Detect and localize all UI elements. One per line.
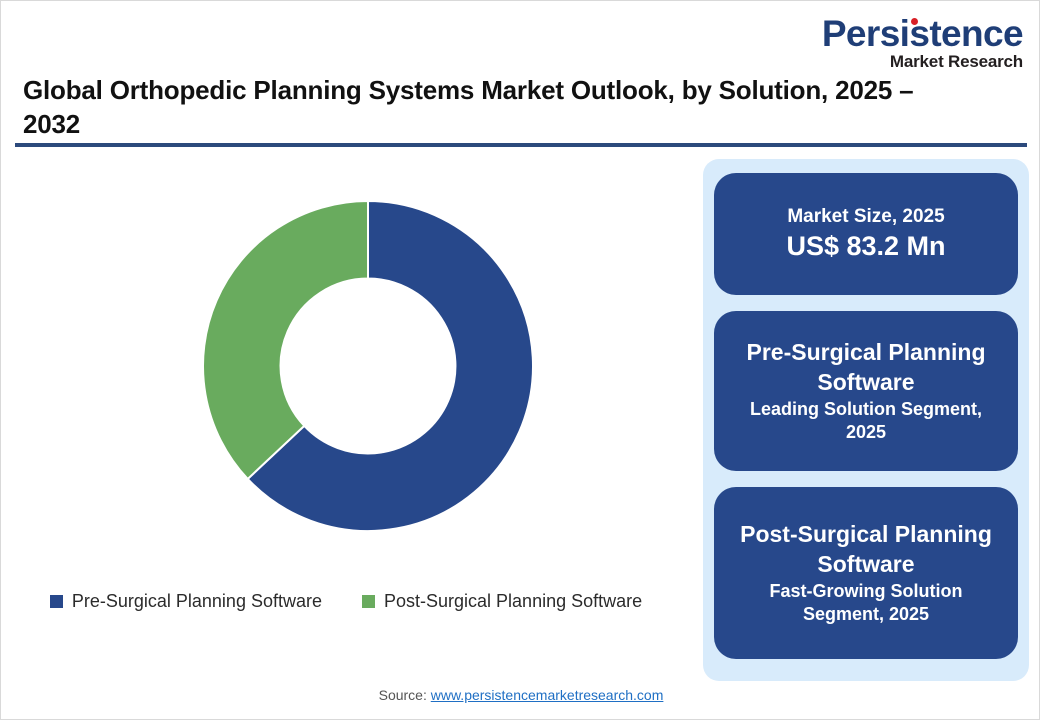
- stat-card-leading-segment: Pre-Surgical Planning Software Leading S…: [714, 311, 1018, 471]
- logo-wordmark: Persistence: [822, 15, 1023, 53]
- donut-slices: [203, 201, 533, 531]
- logo-tagline: Market Research: [791, 52, 1023, 72]
- fastest-segment-caption: Fast-Growing Solution Segment, 2025: [730, 580, 1002, 627]
- infographic-page: Persistence Market Research Global Ortho…: [0, 0, 1040, 720]
- legend-label: Pre-Surgical Planning Software: [72, 591, 322, 612]
- market-size-value: US$ 83.2 Mn: [786, 229, 945, 263]
- stat-card-market-size: Market Size, 2025 US$ 83.2 Mn: [714, 173, 1018, 295]
- source-link[interactable]: www.persistencemarketresearch.com: [431, 687, 664, 703]
- legend-item-pre-surgical[interactable]: Pre-Surgical Planning Software: [50, 591, 322, 612]
- leading-segment-name: Pre-Surgical Planning Software: [730, 338, 1002, 398]
- source-note: Source: www.persistencemarketresearch.co…: [1, 687, 1040, 703]
- page-title: Global Orthopedic Planning Systems Marke…: [23, 73, 923, 142]
- donut-chart-graphic: [201, 199, 535, 533]
- logo-wordmark-text: Persistence: [822, 13, 1023, 54]
- legend-item-post-surgical[interactable]: Post-Surgical Planning Software: [362, 591, 642, 612]
- legend-label: Post-Surgical Planning Software: [384, 591, 642, 612]
- source-label: Source:: [379, 687, 431, 703]
- chart-legend: Pre-Surgical Planning Software Post-Surg…: [1, 591, 691, 612]
- title-divider: [15, 143, 1027, 147]
- legend-swatch-icon: [50, 595, 63, 608]
- logo-red-dot-icon: [911, 18, 918, 25]
- stat-card-fastest-segment: Post-Surgical Planning Software Fast-Gro…: [714, 487, 1018, 659]
- stats-panel: Market Size, 2025 US$ 83.2 Mn Pre-Surgic…: [703, 159, 1029, 681]
- legend-swatch-icon: [362, 595, 375, 608]
- market-size-label: Market Size, 2025: [787, 205, 944, 229]
- company-logo: Persistence Market Research: [791, 15, 1023, 72]
- donut-svg: [201, 199, 535, 533]
- donut-slice-post-surgical[interactable]: [203, 201, 368, 479]
- donut-chart: Pre-Surgical Planning Software Post-Surg…: [1, 151, 691, 651]
- fastest-segment-name: Post-Surgical Planning Software: [730, 520, 1002, 580]
- leading-segment-caption: Leading Solution Segment, 2025: [730, 398, 1002, 445]
